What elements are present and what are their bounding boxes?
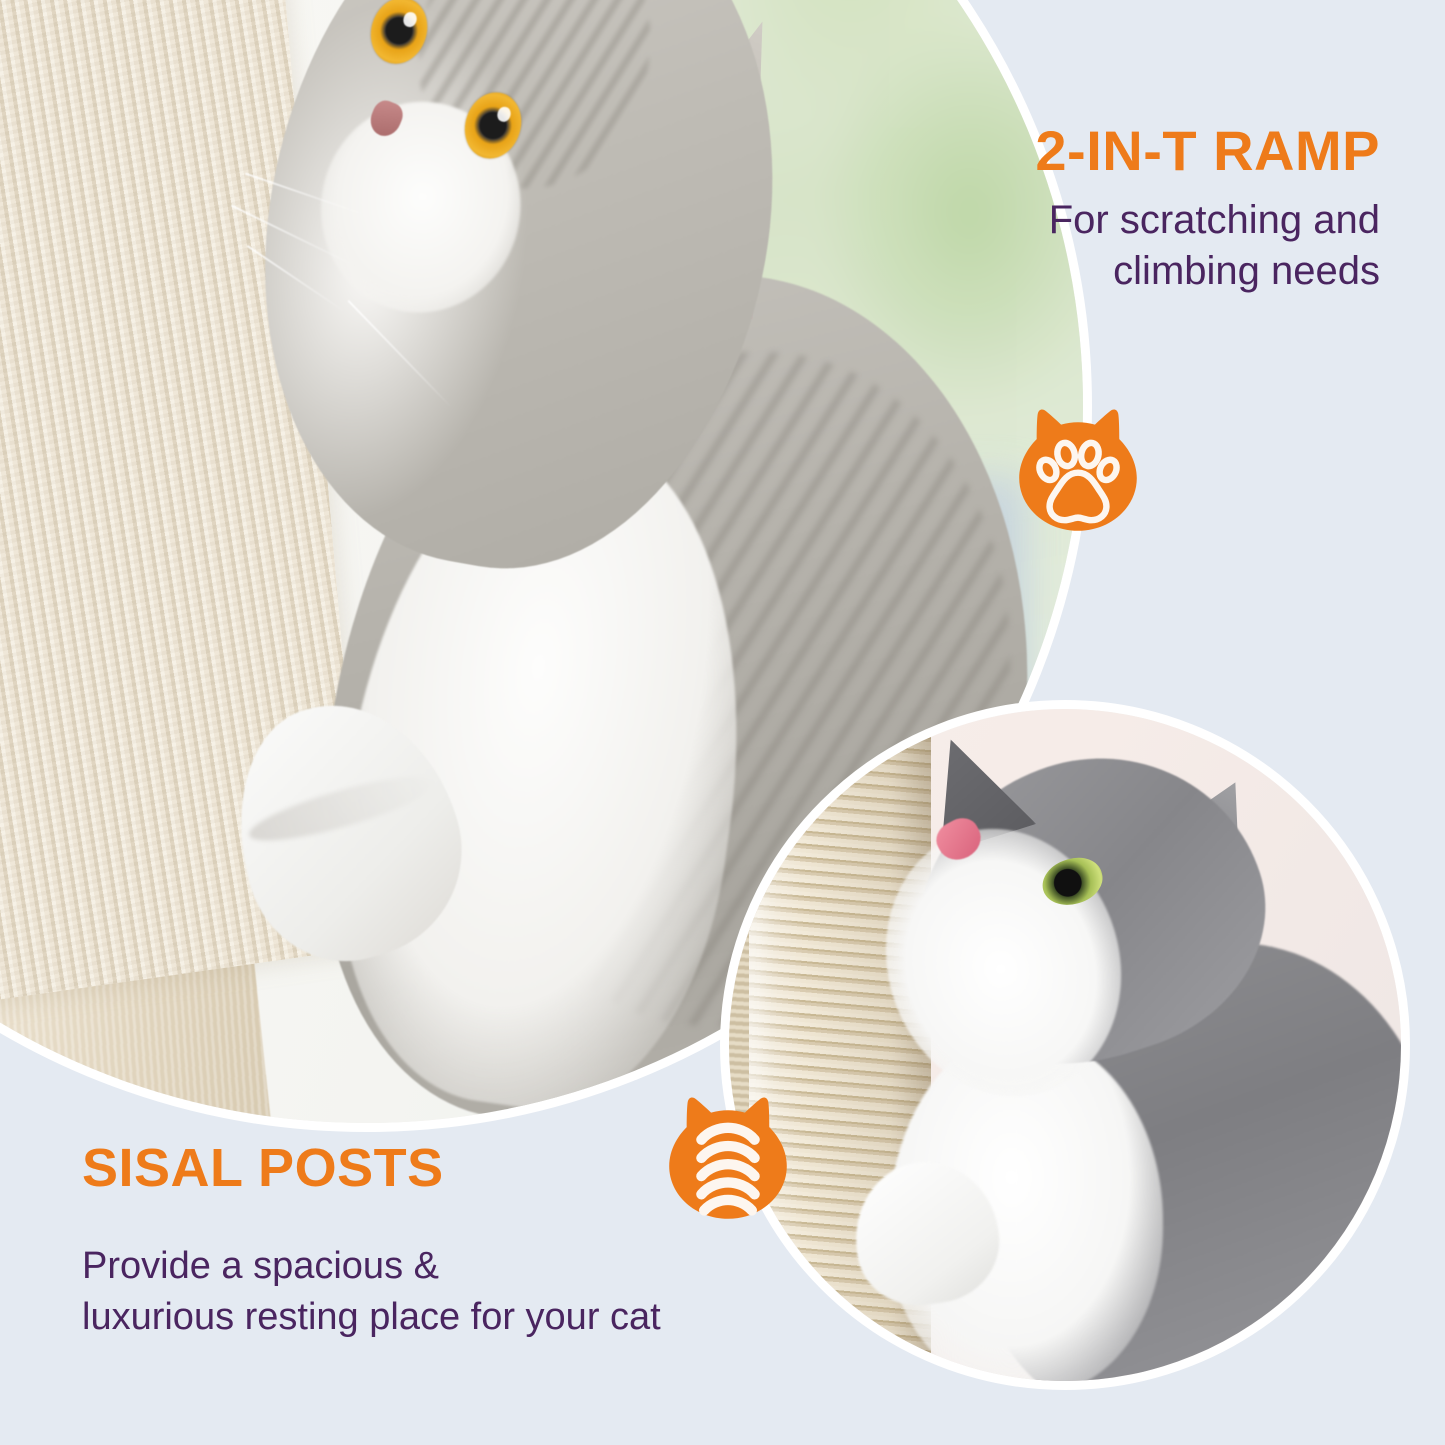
cat-whisker	[347, 299, 452, 408]
feature-ramp-subline-line2: climbing needs	[1113, 249, 1380, 293]
feature-sisal-subline: Provide a spacious & luxurious resting p…	[82, 1241, 802, 1344]
photo-sisal-circle	[720, 700, 1410, 1390]
feature-sisal-subline-line2: luxurious resting place for your cat	[82, 1296, 661, 1338]
feature-ramp-subline: For scratching and climbing needs	[860, 195, 1380, 297]
sisal-scene	[729, 709, 1401, 1381]
feature-ramp-headline: 2-IN-T RAMP	[860, 122, 1380, 181]
feature-sisal-headline: SISAL POSTS	[82, 1140, 802, 1197]
feature-sisal-text: SISAL POSTS Provide a spacious & luxurio…	[82, 1140, 802, 1343]
paw-print-cat-head-icon	[1008, 402, 1148, 542]
feature-sisal-subline-line1: Provide a spacious &	[82, 1245, 439, 1287]
feature-ramp-text: 2-IN-T RAMP For scratching and climbing …	[860, 122, 1380, 297]
longhair-cat	[877, 749, 1401, 1381]
feature-ramp-subline-line1: For scratching and	[1049, 198, 1380, 242]
photo-sisal-image	[729, 709, 1401, 1381]
product-feature-infographic: 2-IN-T RAMP For scratching and climbing …	[0, 0, 1445, 1445]
